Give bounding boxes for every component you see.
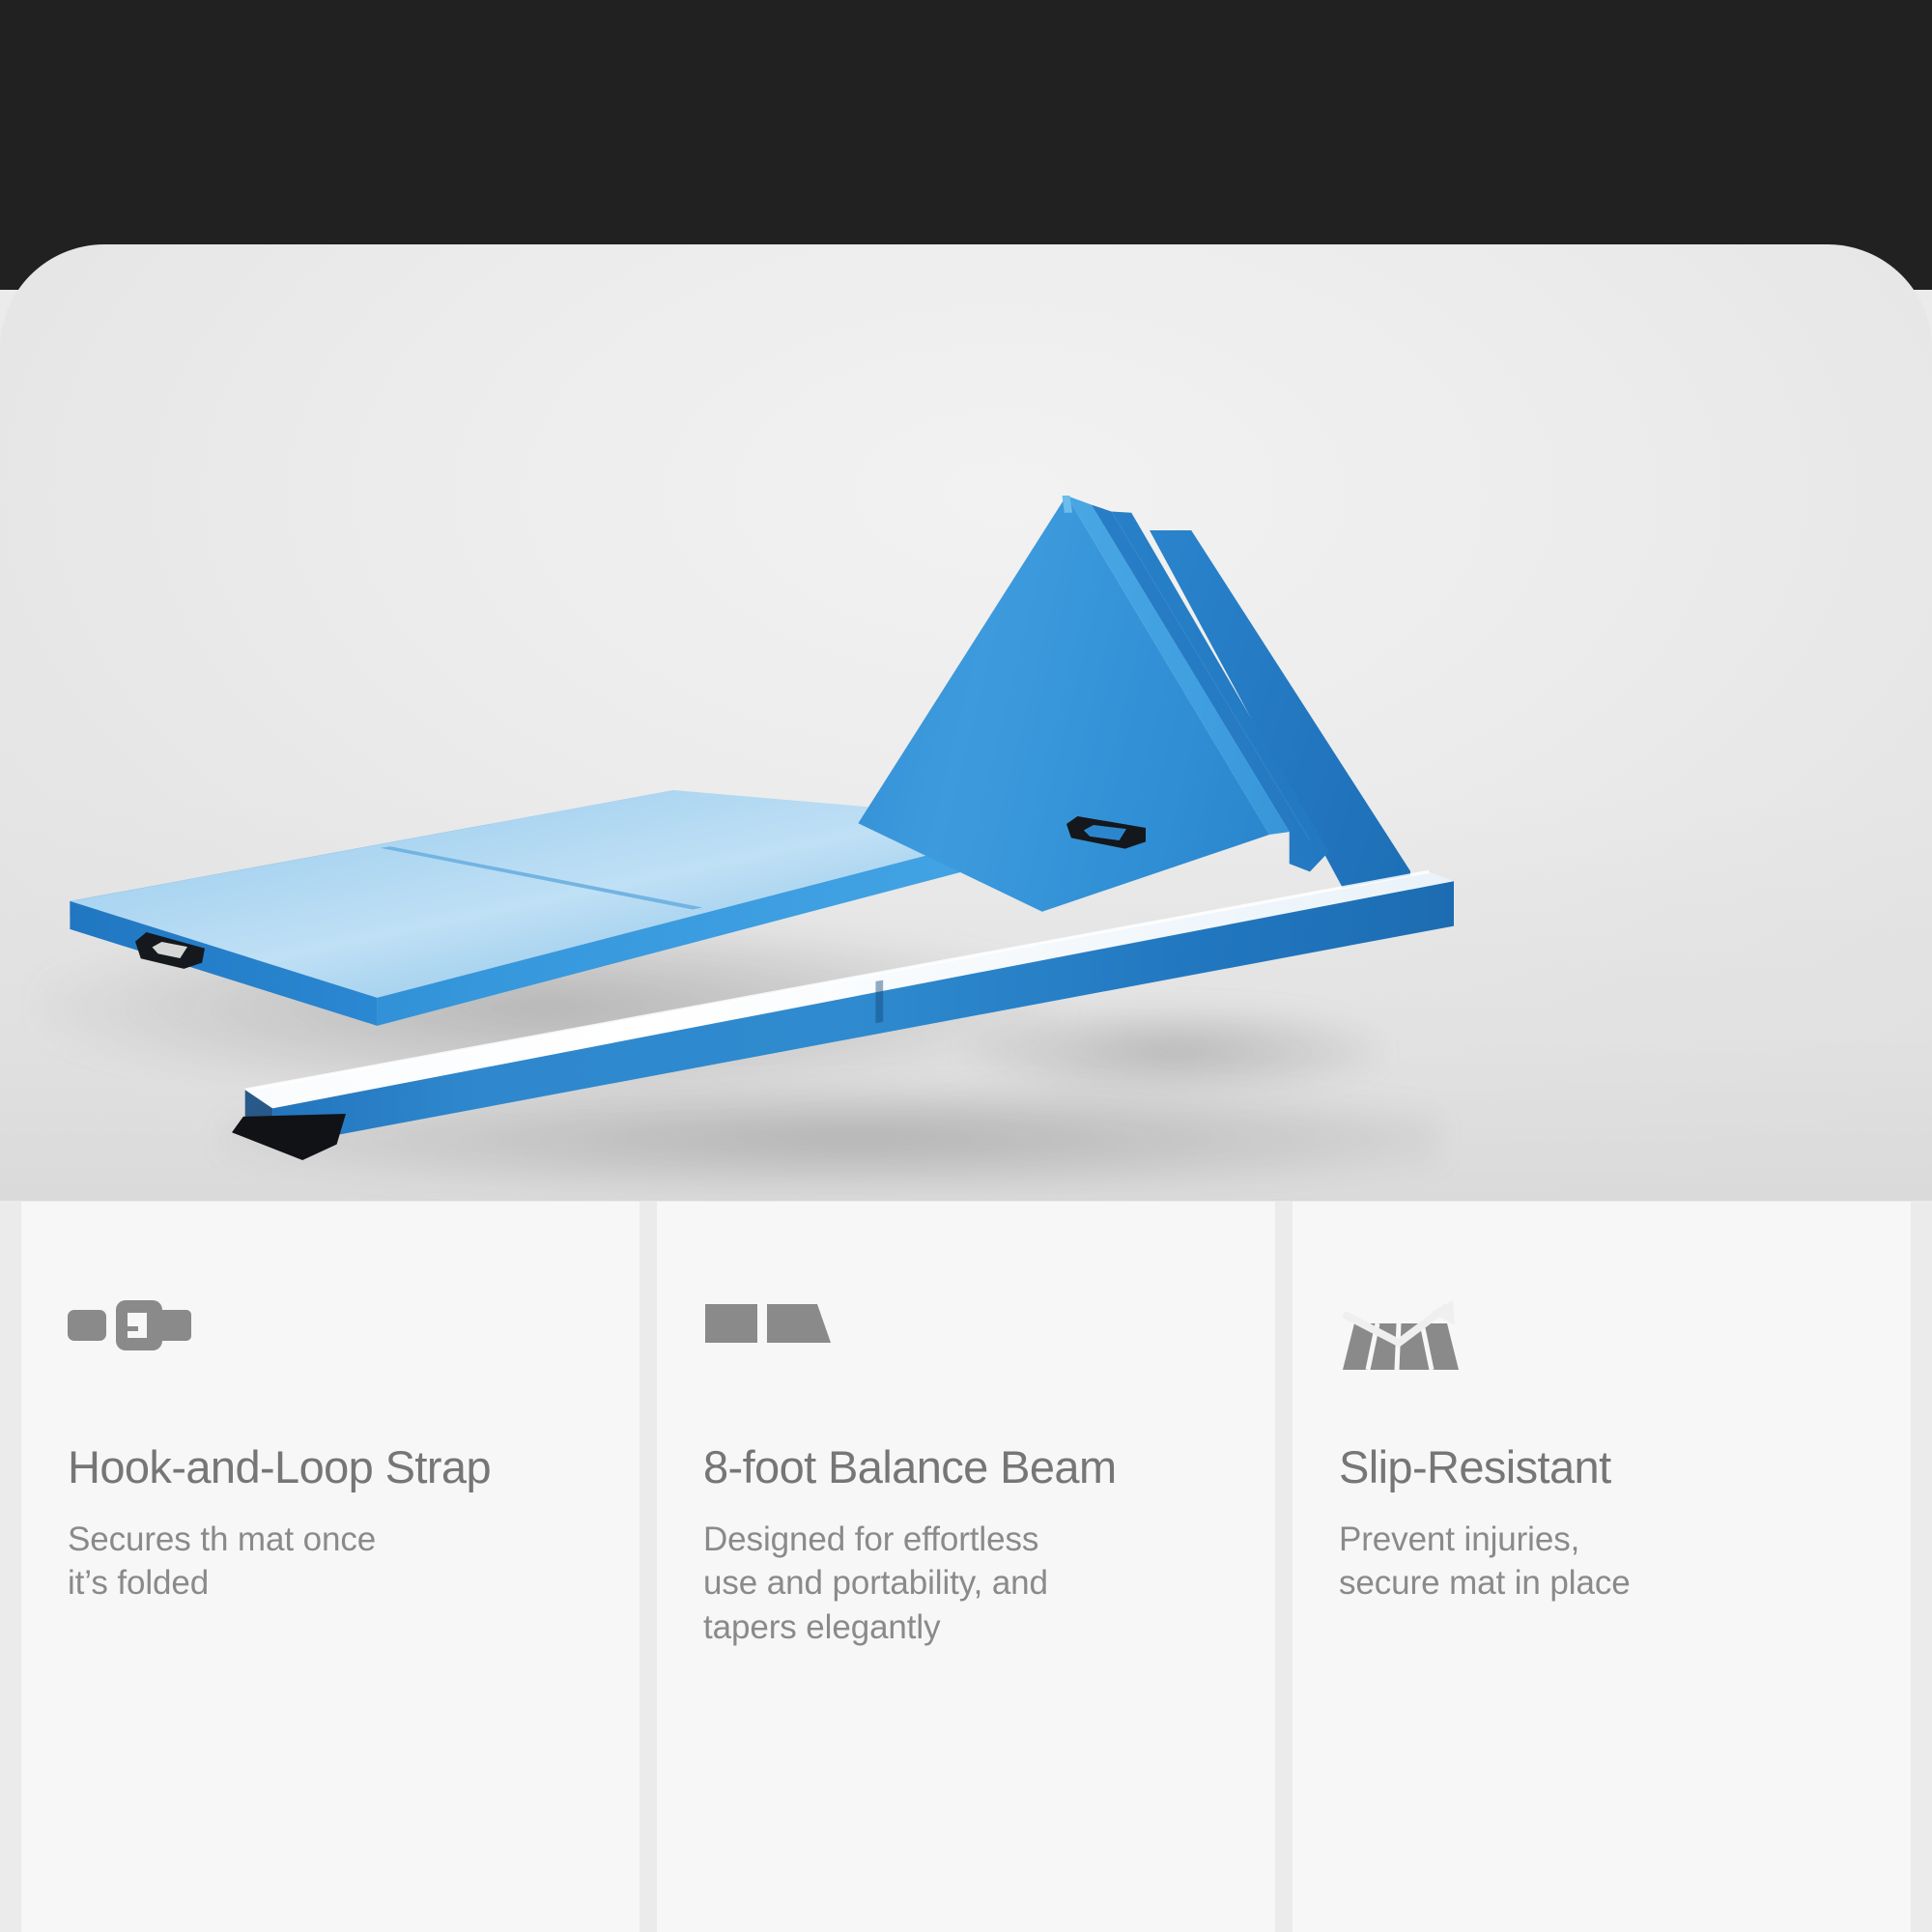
- feature-title: Slip-Resistant: [1339, 1443, 1864, 1492]
- feature-description: Secures th mat once it’s folded: [68, 1518, 593, 1605]
- feature-description: Designed for effortless use and portabil…: [703, 1518, 1229, 1650]
- feature-card-balance-beam: 8-foot Balance Beam Designed for effortl…: [657, 1202, 1275, 1932]
- feature-description: Prevent injuries, secure mat in place: [1339, 1518, 1864, 1605]
- balance-beam-sections-icon: [703, 1298, 1229, 1368]
- slip-resistant-mat-icon: [1339, 1298, 1864, 1368]
- feature-title: Hook-and-Loop Strap: [68, 1443, 593, 1492]
- feature-title: 8-foot Balance Beam: [703, 1443, 1229, 1492]
- folded-mat-shadow: [966, 1008, 1381, 1094]
- feature-card-row: Hook-and-Loop Strap Secures th mat once …: [0, 1202, 1932, 1932]
- hook-and-loop-strap-icon: [68, 1298, 593, 1368]
- feature-card-slip-resistant: Slip-Resistant Prevent injuries, secure …: [1293, 1202, 1911, 1932]
- feature-card-hook-and-loop-strap: Hook-and-Loop Strap Secures th mat once …: [21, 1202, 639, 1932]
- hero-product-image: [0, 244, 1932, 1201]
